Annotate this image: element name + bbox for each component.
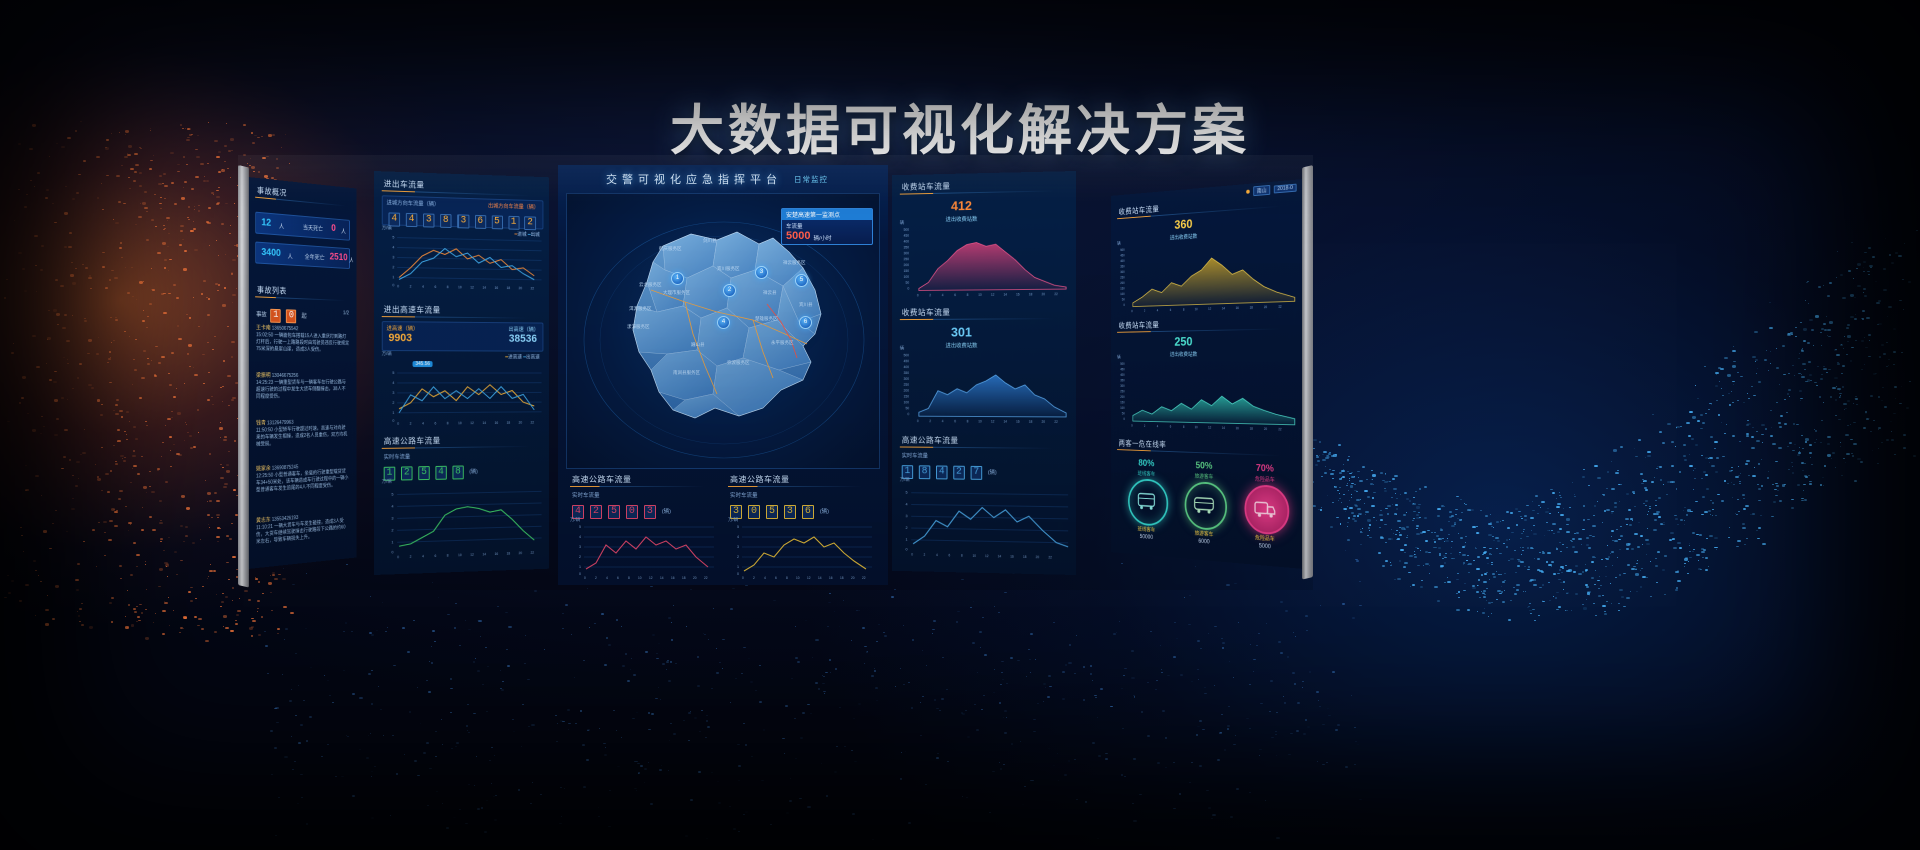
svg-text:4: 4 [422,285,424,289]
svg-text:4: 4 [1157,308,1159,312]
svg-text:8: 8 [786,576,788,579]
gauge-ring [1128,478,1168,527]
right-chart-column: 收费站车流量 412 进出收费站数 辆 500450400 350300250 … [892,171,1076,575]
svg-text:450: 450 [1120,367,1125,371]
svg-text:12: 12 [991,293,995,297]
digit: 4 [936,466,948,480]
svg-text:4: 4 [392,381,394,385]
hf-unit: (辆) [820,509,829,515]
panel-title: 收费站车流量 [1119,320,1160,331]
svg-text:10: 10 [458,421,462,425]
event-name: 王卡南 [256,325,271,331]
digit: 2 [953,466,965,480]
gauge-item[interactable]: 80% 班线客车 班线客车 50000 [1122,458,1172,460]
tooltip-label: 车流量 [786,222,868,230]
event-phone: 13126479963 [267,420,294,427]
event-name: 梁振明 [256,373,271,379]
legend-label: 进高速 [508,354,522,360]
svg-text:8: 8 [1183,308,1185,312]
svg-text:300: 300 [904,251,910,255]
svg-text:14: 14 [660,576,664,579]
panel-title: 事故列表 [257,284,287,296]
svg-text:250: 250 [1120,275,1125,279]
svg-text:12: 12 [1208,425,1211,429]
panel-online-rate: 两客一危在线率 80% 班线客车 班线客车 50000 [1114,435,1300,564]
map-marker-4[interactable]: 4 [717,316,730,329]
svg-text:0: 0 [1123,303,1125,307]
map-place-label: 巍山县 [691,342,705,348]
map-marker-3[interactable]: 3 [755,266,768,279]
digit: 3 [458,214,469,228]
svg-text:400: 400 [1120,259,1125,263]
panel-title: 高速公路车流量 [730,474,790,485]
map-marker-2[interactable]: 2 [723,284,736,297]
list-item[interactable]: 梁振明 13046675256 14:25:23 一辆重型货车与一辆客车在行驶公… [256,373,349,401]
svg-text:22: 22 [1278,427,1282,431]
panel-accident-list: 事故列表 事故 1 0 起 1/2 王卡南 13650675542 15:02:… [252,281,354,562]
svg-text:50: 50 [1122,411,1125,415]
map-place-label: 祥云服务区 [783,260,806,266]
svg-text:14: 14 [1222,306,1225,310]
gauge-ring [1244,484,1289,536]
svg-text:250: 250 [904,257,910,261]
toll-value: 301 [951,325,972,340]
map-place-label: 南涧县服务区 [673,370,700,376]
accident-label: 当天死亡 [303,223,323,233]
accident-count-unit: 起 [302,314,307,320]
svg-text:18: 18 [682,576,686,579]
svg-text:6: 6 [954,293,956,297]
toll-sub: 进出收费站数 [946,341,978,349]
svg-text:6: 6 [948,553,950,557]
digit: 5 [491,215,502,229]
y-unit: 万/辆 [382,479,392,485]
inout-flow-chart: 543 210 024 6810 121416 182022 [384,233,544,291]
gauge-label: 危险品车 [1237,474,1292,485]
svg-text:2: 2 [929,293,931,297]
svg-text:10: 10 [638,576,642,579]
dashboard-header: 交警可视化应急指挥平台 日常监控 [558,165,888,191]
hazmat-truck-icon [1246,486,1284,530]
svg-text:5: 5 [737,525,739,529]
panel-title: 进出车流量 [384,178,425,190]
legend-label: 出高速 [526,355,540,361]
svg-text:250: 250 [1120,389,1125,393]
svg-text:6: 6 [1170,425,1172,429]
toll-chart-2: 500450400 350300250 200150100 500 024 68… [1117,235,1298,314]
svg-text:6: 6 [434,285,436,289]
header-mode[interactable]: 日常监控 [794,174,828,185]
svg-text:50: 50 [906,406,910,410]
accident-sub-unit: 人 [341,227,346,236]
far-right-column: 南山 2018-0 收费站车流量 360 进出收费站数 辆 500450400 [1111,179,1304,569]
hf-sub: 实时车流量 [572,491,600,499]
list-item[interactable]: 姚家余 13690875245 12:25:50 小型普通客车，坐载的行驶重型载… [256,462,349,495]
toll-value: 360 [1174,216,1192,231]
accident-pager[interactable]: 1/2 [343,310,349,316]
svg-text:20: 20 [1042,292,1046,296]
svg-text:6: 6 [954,419,956,423]
svg-text:0: 0 [397,284,399,288]
event-name: 姚家余 [256,466,271,473]
count-digit: 1 [271,309,281,323]
panel-title: 高速公路车流量 [384,435,441,447]
svg-text:14: 14 [482,286,486,290]
digit: 1 [508,216,519,230]
particle-field-right [1300,180,1920,700]
accident-count-label: 事故 [256,312,267,318]
svg-text:4: 4 [606,576,608,579]
title-underline [255,197,345,207]
toll-value: 412 [951,198,972,213]
svg-text:22: 22 [531,551,535,555]
svg-text:300: 300 [1120,270,1125,274]
svg-text:1: 1 [579,565,581,569]
highway-flow-chart-2: 543 210 024 6810 121416 182022 [572,523,716,579]
svg-text:8: 8 [447,285,449,289]
svg-text:3: 3 [392,391,394,395]
dashboard-screen: 事故概况 12 人 当天死亡 0 人 3400 人 全年死亡 2510 人 [238,155,1313,590]
svg-text:4: 4 [942,419,944,423]
svg-text:2: 2 [392,265,394,269]
svg-text:0: 0 [737,572,739,576]
svg-text:2: 2 [906,526,908,530]
svg-text:4: 4 [579,535,581,539]
map-place-label: 祥云县 [763,290,777,296]
svg-text:3: 3 [579,545,581,549]
svg-text:8: 8 [967,419,969,423]
panel-highway-flow-2: 高速公路车流量 实时车流量 4 2 5 0 3 (辆) 万/辆 [566,471,718,579]
svg-text:5: 5 [392,235,394,239]
svg-text:22: 22 [531,286,535,290]
gauge-ring [1185,481,1227,531]
map-marker-6[interactable]: 6 [799,316,812,329]
svg-text:18: 18 [1023,555,1027,559]
title-underline [1117,449,1280,456]
svg-text:16: 16 [1010,555,1014,559]
svg-text:14: 14 [482,421,486,425]
svg-text:0: 0 [907,287,909,291]
svg-text:400: 400 [904,240,910,244]
svg-text:0: 0 [742,576,744,579]
svg-text:12: 12 [470,553,474,557]
panel-title: 进出高速车流量 [384,304,441,316]
accident-count: 事故 1 0 起 [256,303,307,323]
screen-bezel-right [1302,165,1313,580]
inout-right-digits: 3 6 5 1 2 [458,209,537,230]
svg-text:8: 8 [628,576,630,579]
inout-right-label: 出城方向车流量（辆） [488,202,539,211]
hw-left-label: 进高速（辆） [387,324,419,332]
svg-text:5: 5 [391,493,393,497]
map-place-label: 弥渡服务区 [727,360,750,366]
map-place-label: 洱源服务区 [629,306,652,312]
toll-sub: 进出收费站数 [1170,350,1197,358]
svg-text:500: 500 [1120,248,1125,252]
svg-text:200: 200 [904,389,910,393]
svg-text:6: 6 [1170,308,1172,312]
hf-digits: 1 2 5 4 8 (辆) [384,460,478,480]
svg-text:0: 0 [917,293,919,297]
svg-text:350: 350 [904,371,910,375]
svg-text:16: 16 [1016,420,1020,424]
svg-text:20: 20 [1264,305,1268,309]
svg-text:18: 18 [507,552,511,556]
y-unit: 万/辆 [900,477,910,483]
svg-text:0: 0 [1131,424,1133,428]
svg-text:20: 20 [693,576,697,579]
svg-text:2: 2 [410,285,412,289]
event-time: 15:02:50 [256,332,273,338]
hf-digits: 4 2 5 0 3 (辆) [572,500,671,519]
svg-text:10: 10 [978,419,982,423]
event-time: 12:25:50 [256,473,273,480]
digit: 6 [802,505,814,519]
svg-text:3: 3 [391,516,393,520]
digit: 0 [626,505,638,519]
map-place-label: 宾川县 [799,302,813,308]
svg-text:350: 350 [904,245,910,249]
svg-text:20: 20 [519,421,523,425]
svg-text:22: 22 [862,576,866,579]
svg-text:0: 0 [584,576,586,579]
toll-chart-1: 500450400 350300250 200150100 500 024 68… [900,223,1070,300]
svg-text:10: 10 [978,293,982,297]
accident-row: 12 人 当天死亡 0 人 [255,212,350,241]
svg-text:12: 12 [470,285,474,289]
digit: 2 [590,505,602,519]
svg-text:250: 250 [904,383,910,387]
svg-text:6: 6 [434,554,436,558]
digit: 7 [970,466,982,480]
toll-counter: 250 进出收费站数 [1170,333,1197,358]
gauge-item[interactable]: 50% 旅游客车 旅游客车 6000 [1178,460,1230,462]
map-canvas[interactable]: 1 2 3 4 5 6 鹤庆服务区 剑川县 大理市服务区 宾川服务区 祥云县 洱… [566,193,880,469]
accident-row: 3400 人 全年死亡 2510 人 [255,242,350,270]
svg-text:5: 5 [392,371,394,375]
highway-flow-chart-4: 543 210 024 6810 121416 182022 [900,487,1070,561]
svg-text:22: 22 [1048,555,1052,559]
svg-text:8: 8 [961,554,963,558]
svg-text:4: 4 [392,245,394,249]
svg-text:14: 14 [818,576,822,579]
svg-text:22: 22 [1054,420,1058,424]
tooltip-unit: 辆/小时 [813,234,831,242]
svg-text:0: 0 [917,419,919,423]
svg-text:2: 2 [1144,424,1146,428]
svg-text:18: 18 [1250,426,1253,430]
svg-text:150: 150 [1120,400,1125,404]
svg-text:10: 10 [973,554,977,558]
map-place-label: 剑川县 [703,238,717,244]
bus-icon [1130,480,1164,521]
digit: 2 [401,466,413,480]
hf-digits: 3 0 5 3 6 (辆) [730,500,829,519]
list-item[interactable]: 钱青 13126479963 11:50:50 小型轿车行驶超过时速，高速与对向… [256,418,349,448]
svg-text:10: 10 [1195,425,1198,429]
svg-text:22: 22 [531,421,535,425]
svg-text:2: 2 [579,555,581,559]
toll-counter: 301 进出收费站数 [946,324,978,350]
svg-text:450: 450 [904,359,910,363]
hf-sub: 实时车流量 [384,452,410,460]
inout-left-label: 进城方向车流量（辆） [387,198,440,208]
map-place-label: 云龙服务区 [639,282,662,288]
hf-unit: (辆) [988,470,997,476]
gauge-label: 旅游客车 [1178,471,1230,481]
svg-text:500: 500 [1120,362,1125,366]
toll-sub: 进出收费站数 [1170,232,1197,241]
svg-text:6: 6 [775,576,777,579]
svg-text:2: 2 [410,555,412,559]
svg-text:100: 100 [1120,406,1125,410]
map-place-label: 楚雄服务区 [755,316,778,322]
svg-text:22: 22 [1054,292,1058,296]
accident-value: 12 [261,217,271,229]
svg-text:18: 18 [1250,305,1253,309]
digit: 5 [608,505,620,519]
svg-text:0: 0 [579,572,581,576]
header-title: 交警可视化应急指挥平台 [606,171,782,187]
svg-text:4: 4 [764,576,766,579]
toll-chart-3: 500450400 350300250 200150100 500 024 68… [900,351,1070,427]
svg-text:200: 200 [1120,281,1125,285]
center-map-column: 交警可视化应急指挥平台 日常监控 [558,165,888,585]
panel-title: 收费站车流量 [902,307,951,318]
svg-text:4: 4 [942,293,944,297]
svg-text:16: 16 [671,576,675,579]
hero-stage: 大数据可视化解决方案 事故概况 12 人 当天死亡 0 人 3400 人 全年 [0,0,1920,850]
svg-text:0: 0 [397,555,399,559]
particle-field-bottom [260,560,1360,840]
accident-unit: 人 [288,252,293,261]
title-underline [382,316,530,318]
hf-digits: 1 8 4 2 7 (辆) [902,460,997,480]
accident-unit: 人 [279,222,284,231]
svg-text:12: 12 [807,576,811,579]
svg-text:14: 14 [482,552,486,556]
svg-text:2: 2 [595,576,597,579]
panel-toll-2: 收费站车流量 360 进出收费站数 辆 500450400 350300250 … [1114,189,1300,314]
svg-text:10: 10 [458,285,462,289]
hf-sub: 实时车流量 [730,491,758,499]
map-place-label: 鹤庆服务区 [659,246,682,252]
gauge-label: 班线客车 [1122,469,1172,479]
svg-text:2: 2 [929,419,931,423]
highway-flow-chart-1: 543 210 024 6810 121416 182022 [384,486,544,561]
digit: 5 [766,505,778,519]
digit: 8 [919,465,930,479]
svg-text:20: 20 [519,551,523,555]
svg-text:8: 8 [967,293,969,297]
svg-text:350: 350 [1120,378,1125,382]
hf-sub: 实时车流量 [902,451,928,459]
svg-text:200: 200 [904,263,910,267]
svg-text:16: 16 [829,576,833,579]
svg-text:0: 0 [392,419,394,423]
map-marker-5[interactable]: 5 [795,274,808,287]
hw-right-label: 出高速（辆） [508,325,538,333]
title-underline [728,486,862,487]
list-item[interactable]: 黄志东 13553426193 11:10:21 一辆大货车与车发生碰撞，造成3… [256,511,349,546]
svg-text:500: 500 [904,353,910,357]
digit: 4 [406,213,418,227]
event-time: 14:25:23 [256,380,273,386]
svg-text:20: 20 [1264,427,1268,431]
panel-toll-4: 收费站车流量 250 进出收费站数 辆 500450400 350300250 … [1114,313,1300,437]
svg-text:4: 4 [391,504,393,508]
toll-value: 250 [1174,334,1192,348]
svg-text:100: 100 [904,275,910,279]
highway-inout-chart: 543 210 024 6810 121416 182022 [384,369,544,427]
toll-chart-4: 500450400 350300250 200150100 500 024 68… [1117,359,1298,433]
screen-bezel-left [238,165,249,588]
toll-counter: 360 进出收费站数 [1170,215,1197,241]
digit: 3 [423,213,434,227]
svg-text:3: 3 [906,514,908,518]
svg-text:16: 16 [1236,306,1239,310]
svg-text:22: 22 [704,576,708,579]
svg-text:6: 6 [617,576,619,579]
accident-value: 3400 [261,247,280,259]
highway-flow-chart-3: 543 210 024 6810 121416 182022 [730,523,874,579]
panel-title: 收费站车流量 [902,181,951,193]
svg-text:2: 2 [392,401,394,405]
digit: 4 [435,466,446,480]
digit: 2 [525,216,536,230]
svg-text:0: 0 [1123,417,1125,421]
hf-unit: (辆) [469,469,478,475]
svg-text:16: 16 [495,286,499,290]
map-place-label: 宾川服务区 [717,266,740,272]
hw-left-value: 9903 [389,332,413,344]
svg-text:14: 14 [998,554,1002,558]
svg-text:150: 150 [904,395,910,399]
title-underline [255,296,345,301]
hf-unit: (辆) [662,509,671,515]
accident-sub-unit: 人 [349,256,353,265]
event-name: 钱青 [256,421,266,427]
svg-text:3: 3 [737,545,739,549]
panel-highway-inout: 进出高速车流量 进高速（辆） 出高速（辆） 9903 38536 万/辆 ━进高… [378,301,545,429]
map-marker-1[interactable]: 1 [671,272,684,285]
svg-text:500: 500 [904,228,910,232]
map-tooltip: 安楚高速第一监测点 车流量 5000 辆/小时 [781,208,873,245]
svg-text:0: 0 [397,422,399,426]
digit: 5 [418,466,429,480]
svg-text:100: 100 [904,400,910,404]
svg-text:0: 0 [911,553,913,557]
svg-text:4: 4 [936,553,938,557]
svg-text:5: 5 [906,491,908,495]
panel-title: 高速公路车流量 [572,474,632,485]
svg-text:450: 450 [1120,253,1125,257]
svg-text:3: 3 [392,255,394,259]
svg-text:50: 50 [906,281,910,285]
svg-text:8: 8 [447,554,449,558]
gauge-item[interactable]: 70% 危险品车 危险品车 5000 [1237,462,1292,464]
accident-label: 全年死亡 [305,252,325,262]
map-place-label: 永平服务区 [771,340,794,346]
list-item[interactable]: 王卡南 13650675542 15:02:50 一辆面包车搭载15人进入重庆打… [256,325,349,354]
digit: 8 [440,214,451,228]
svg-text:1: 1 [392,275,394,279]
svg-text:2: 2 [1144,309,1146,313]
svg-text:0: 0 [392,283,394,287]
svg-text:18: 18 [507,421,511,425]
svg-text:350: 350 [1120,264,1125,268]
svg-text:8: 8 [447,421,449,425]
